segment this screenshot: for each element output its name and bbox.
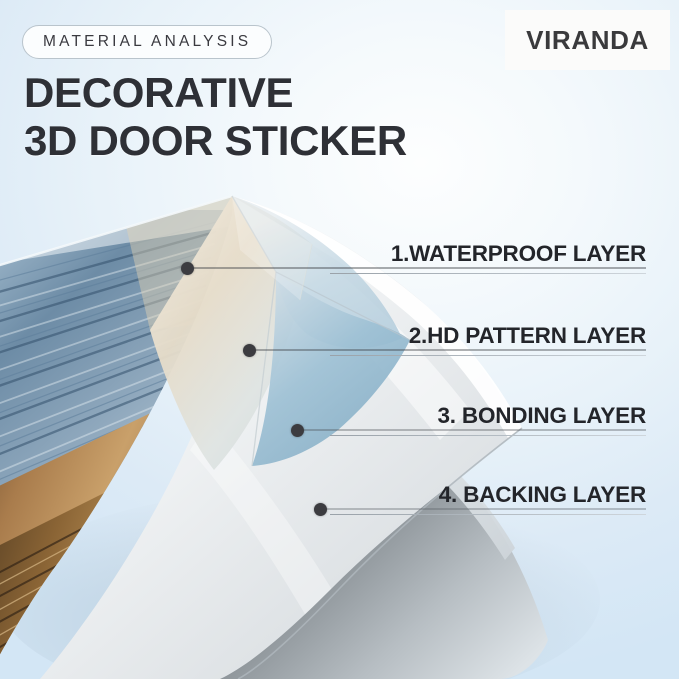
badge-label: MATERIAL ANALYSIS	[43, 33, 251, 51]
callout-bonding-layer: 3. BONDING LAYER	[330, 405, 646, 436]
brand-name: VIRANDA	[526, 25, 649, 56]
callout-label-4: 4. BACKING LAYER	[330, 484, 646, 507]
callout-rule-4	[330, 514, 646, 515]
infographic-canvas: MATERIAL ANALYSIS DECORATIVE 3D DOOR STI…	[0, 0, 679, 679]
callout-label-2: 2.HD PATTERN LAYER	[330, 325, 646, 348]
brand-logo-box: VIRANDA	[505, 10, 670, 70]
callout-rule-1	[330, 273, 646, 274]
callout-label-1: 1.WATERPROOF LAYER	[330, 243, 646, 266]
callout-waterproof-layer: 1.WATERPROOF LAYER	[330, 243, 646, 274]
callout-dot-1	[181, 262, 194, 275]
callout-rule-2	[330, 355, 646, 356]
callout-hd-pattern-layer: 2.HD PATTERN LAYER	[330, 325, 646, 356]
page-title-line2: 3D DOOR STICKER	[24, 120, 407, 162]
callout-backing-layer: 4. BACKING LAYER	[330, 484, 646, 515]
callout-rule-3	[330, 435, 646, 436]
material-analysis-badge: MATERIAL ANALYSIS	[22, 25, 272, 59]
callout-dot-3	[291, 424, 304, 437]
callout-dot-2	[243, 344, 256, 357]
callout-label-3: 3. BONDING LAYER	[330, 405, 646, 428]
page-title-line1: DECORATIVE	[24, 72, 293, 114]
callout-dot-4	[314, 503, 327, 516]
